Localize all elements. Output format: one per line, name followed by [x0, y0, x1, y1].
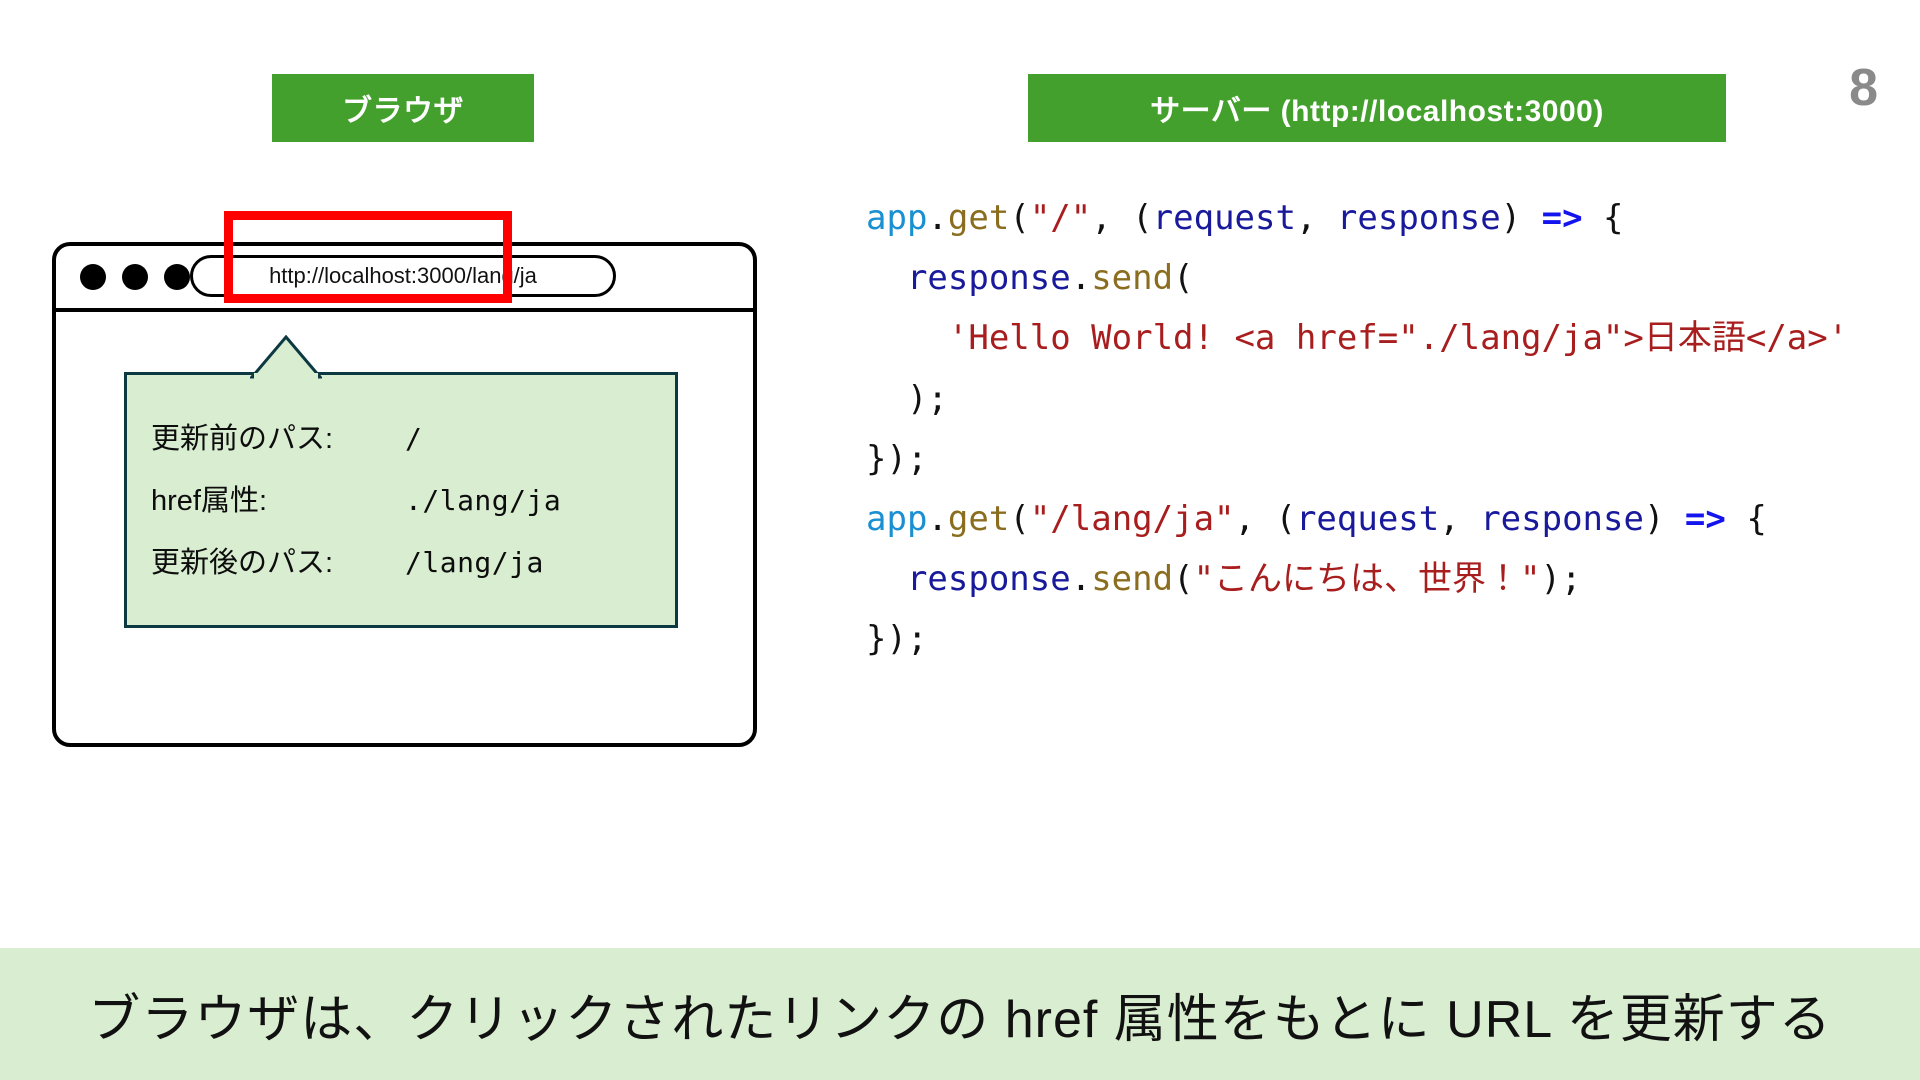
code-line: 'Hello World! <a href="./lang/ja">日本語</a…: [866, 308, 1848, 368]
code-token: });: [866, 619, 927, 659]
code-token: send: [1091, 258, 1173, 298]
code-token: , (: [1091, 198, 1152, 238]
code-token: [866, 318, 948, 358]
callout-row: href属性: ./lang/ja: [151, 477, 665, 519]
code-token: );: [866, 379, 948, 419]
code-token: });: [866, 439, 927, 479]
callout-value-after-path: /lang/ja: [405, 546, 544, 579]
callout-value-href-attribute: ./lang/ja: [405, 484, 561, 517]
code-token: [866, 258, 907, 298]
code-token: .: [927, 499, 947, 539]
address-bar[interactable]: http://localhost:3000/lang/ja: [190, 255, 616, 297]
badge-browser-label: ブラウザ: [342, 86, 464, 130]
bottom-banner: ブラウザは、クリックされたリンクの href 属性をもとに URL を更新する: [0, 948, 1920, 1080]
callout-row: 更新後のパス: /lang/ja: [151, 539, 665, 581]
maximize-dot-icon[interactable]: [164, 264, 190, 290]
badge-server: サーバー (http://localhost:3000): [1028, 74, 1726, 142]
code-token: response: [907, 559, 1071, 599]
code-line: app.get("/lang/ja", (request, response) …: [866, 489, 1848, 549]
badge-server-label: サーバー (http://localhost:3000): [1150, 86, 1604, 130]
code-token: send: [1091, 559, 1173, 599]
code-token: get: [948, 499, 1009, 539]
callout-pointer-icon: [250, 335, 322, 379]
code-token: .: [1071, 559, 1091, 599]
code-line: });: [866, 429, 1848, 489]
code-line: response.send(: [866, 248, 1848, 308]
code-token: response: [1480, 499, 1644, 539]
browser-chrome-bar: http://localhost:3000/lang/ja: [56, 246, 753, 312]
code-token: "/": [1030, 198, 1091, 238]
code-token: get: [948, 198, 1009, 238]
callout-label-before-path: 更新前のパス:: [151, 415, 405, 457]
callout-value-before-path: /: [405, 422, 422, 455]
callout-label-after-path: 更新後のパス:: [151, 539, 405, 581]
code-line: app.get("/", (request, response) => {: [866, 188, 1848, 248]
code-token: (: [1173, 258, 1193, 298]
close-dot-icon[interactable]: [80, 264, 106, 290]
bottom-banner-text: ブラウザは、クリックされたリンクの href 属性をもとに URL を更新する: [88, 977, 1831, 1052]
code-token: ,: [1439, 499, 1480, 539]
code-token: [866, 559, 907, 599]
code-token: ): [1501, 198, 1542, 238]
code-token: "/lang/ja": [1030, 499, 1235, 539]
code-token: , (: [1235, 499, 1296, 539]
code-token: ,: [1296, 198, 1337, 238]
code-token: (: [1173, 559, 1193, 599]
code-token: "こんにちは、世界！": [1194, 559, 1541, 599]
code-token: {: [1583, 198, 1624, 238]
callout-rows: 更新前のパス: / href属性: ./lang/ja 更新後のパス: /lan…: [151, 415, 665, 581]
code-line: );: [866, 369, 1848, 429]
page-number: 8: [1849, 62, 1878, 114]
code-token: 'Hello World! <a href="./lang/ja">日本語</a…: [948, 318, 1848, 358]
code-token: app: [866, 198, 927, 238]
code-token: =>: [1542, 198, 1583, 238]
code-line: response.send("こんにちは、世界！");: [866, 549, 1848, 609]
code-token: request: [1296, 499, 1439, 539]
code-token: .: [927, 198, 947, 238]
callout-label-href-attribute: href属性:: [151, 477, 405, 519]
address-bar-url: http://localhost:3000/lang/ja: [269, 263, 537, 289]
code-token: response: [907, 258, 1071, 298]
code-line: });: [866, 609, 1848, 669]
callout-row: 更新前のパス: /: [151, 415, 665, 457]
code-token: (: [1009, 499, 1029, 539]
code-token: .: [1071, 258, 1091, 298]
code-token: request: [1153, 198, 1296, 238]
code-token: =>: [1685, 499, 1726, 539]
traffic-lights: [80, 264, 190, 290]
code-token: app: [866, 499, 927, 539]
code-block: app.get("/", (request, response) => { re…: [866, 188, 1848, 669]
code-token: ): [1644, 499, 1685, 539]
code-token: (: [1009, 198, 1029, 238]
code-token: );: [1541, 559, 1582, 599]
callout-box: 更新前のパス: / href属性: ./lang/ja 更新後のパス: /lan…: [124, 372, 678, 628]
code-token: response: [1337, 198, 1501, 238]
badge-browser: ブラウザ: [272, 74, 534, 142]
minimize-dot-icon[interactable]: [122, 264, 148, 290]
code-token: {: [1726, 499, 1767, 539]
